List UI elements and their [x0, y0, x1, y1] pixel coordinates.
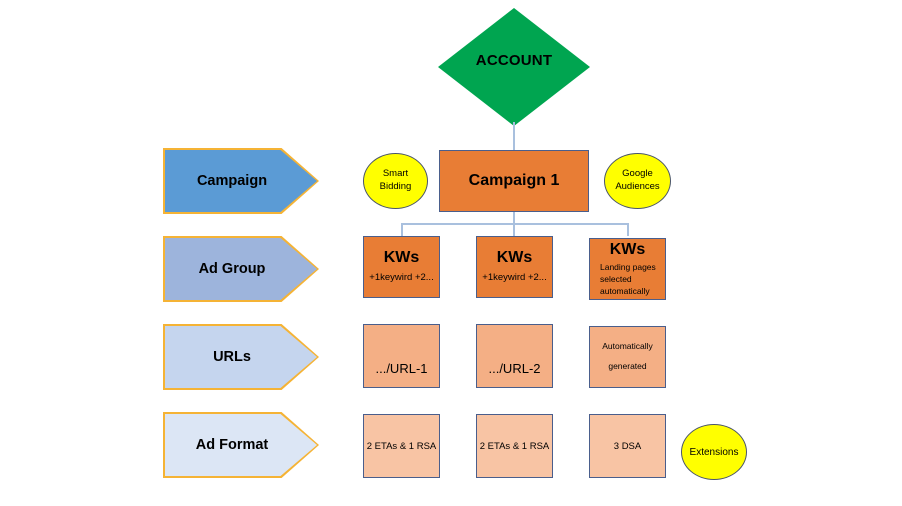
google-audiences-text: Google Audiences	[615, 168, 659, 194]
url-box-2-text: .../URL-2	[488, 361, 540, 376]
smart-bidding-line2: Bidding	[380, 181, 412, 194]
ad-group-box-2[interactable]: KWs +1keywird +2...	[476, 236, 553, 298]
ad-group-3-line1: Landing pages	[590, 261, 656, 273]
connector-to-ad-group-3	[627, 223, 629, 236]
row-banner-ad-format-label: Ad Format	[196, 437, 269, 453]
account-node[interactable]: ACCOUNT	[438, 8, 590, 126]
url-box-3-line2: generated	[608, 357, 646, 377]
account-label: ACCOUNT	[438, 52, 590, 69]
ad-format-box-3[interactable]: 3 DSA	[589, 414, 666, 478]
ad-group-box-1[interactable]: KWs +1keywird +2...	[363, 236, 440, 298]
url-box-1-text: .../URL-1	[375, 361, 427, 376]
row-banner-ad-group[interactable]: Ad Group	[163, 236, 319, 302]
row-banner-urls-fill: URLs	[165, 326, 317, 388]
campaign-1-box[interactable]: Campaign 1	[439, 150, 589, 212]
connector-account-to-campaign	[513, 122, 515, 150]
ad-format-box-1-text: 2 ETAs & 1 RSA	[367, 441, 437, 452]
google-audiences-line1: Google	[615, 168, 659, 181]
ad-group-3-line3: automatically	[590, 285, 650, 297]
ad-group-box-3[interactable]: KWs Landing pages selected automatically	[589, 238, 666, 300]
url-box-3-line1: Automatically	[602, 337, 653, 357]
diagram-canvas: ACCOUNT Campaign Ad Group URLs Ad Format…	[0, 0, 902, 506]
row-banner-campaign-fill: Campaign	[165, 150, 317, 212]
google-audiences-line2: Audiences	[615, 181, 659, 194]
row-banner-ad-group-label: Ad Group	[199, 261, 266, 277]
ad-format-box-1[interactable]: 2 ETAs & 1 RSA	[363, 414, 440, 478]
ad-group-3-line2: selected	[590, 273, 632, 285]
row-banner-campaign-label: Campaign	[197, 173, 267, 189]
row-banner-campaign[interactable]: Campaign	[163, 148, 319, 214]
row-banner-urls-label: URLs	[213, 349, 251, 365]
ad-format-box-2-text: 2 ETAs & 1 RSA	[480, 441, 550, 452]
connector-to-ad-group-1	[401, 223, 403, 236]
campaign-1-label: Campaign 1	[469, 172, 560, 190]
ad-group-2-subtitle: +1keywird +2...	[482, 272, 546, 285]
url-box-2[interactable]: .../URL-2	[476, 324, 553, 388]
ad-group-3-title: KWs	[610, 241, 646, 259]
ad-group-2-title: KWs	[497, 249, 533, 267]
smart-bidding-line1: Smart	[380, 168, 412, 181]
google-audiences-ellipse[interactable]: Google Audiences	[604, 153, 671, 209]
smart-bidding-text: Smart Bidding	[380, 168, 412, 194]
row-banner-ad-format-fill: Ad Format	[165, 414, 317, 476]
row-banner-ad-format[interactable]: Ad Format	[163, 412, 319, 478]
row-banner-ad-group-fill: Ad Group	[165, 238, 317, 300]
smart-bidding-ellipse[interactable]: Smart Bidding	[363, 153, 428, 209]
ad-group-1-subtitle: +1keywird +2...	[369, 272, 433, 285]
ad-group-1-title: KWs	[384, 249, 420, 267]
extensions-ellipse[interactable]: Extensions	[681, 424, 747, 480]
url-box-1[interactable]: .../URL-1	[363, 324, 440, 388]
row-banner-urls[interactable]: URLs	[163, 324, 319, 390]
extensions-label: Extensions	[690, 447, 739, 458]
ad-format-box-2[interactable]: 2 ETAs & 1 RSA	[476, 414, 553, 478]
url-box-3[interactable]: Automatically generated	[589, 326, 666, 388]
ad-format-box-3-text: 3 DSA	[614, 441, 641, 452]
connector-to-ad-group-2	[513, 223, 515, 236]
